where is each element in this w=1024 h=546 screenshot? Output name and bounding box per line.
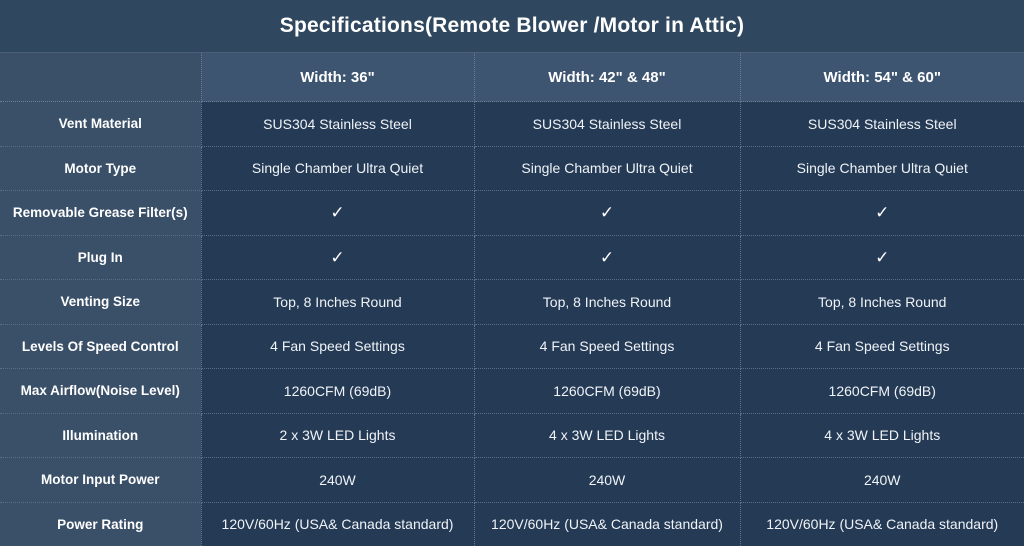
row-value-col2: ✓ — [474, 191, 740, 236]
row-value-col2: 4 Fan Speed Settings — [474, 324, 740, 369]
table-row: Illumination 2 x 3W LED Lights 4 x 3W LE… — [0, 413, 1024, 458]
row-label: Power Rating — [0, 502, 201, 546]
table-row: Max Airflow(Noise Level) 1260CFM (69dB) … — [0, 369, 1024, 414]
title-row: Specifications(Remote Blower /Motor in A… — [0, 0, 1024, 53]
row-value-col2: 120V/60Hz (USA& Canada standard) — [474, 502, 740, 546]
row-value-col3: 4 Fan Speed Settings — [740, 324, 1024, 369]
check-icon: ✓ — [600, 204, 614, 221]
table-row: Motor Input Power 240W 240W 240W — [0, 458, 1024, 503]
table-row: Removable Grease Filter(s) ✓ ✓ ✓ — [0, 191, 1024, 236]
row-value-col1: 4 Fan Speed Settings — [201, 324, 474, 369]
column-header-width-42-48: Width: 42" & 48" — [474, 53, 740, 102]
row-value-col1: Single Chamber Ultra Quiet — [201, 146, 474, 191]
check-icon: ✓ — [330, 204, 344, 221]
row-value-col2: ✓ — [474, 235, 740, 280]
row-value-col3: Top, 8 Inches Round — [740, 280, 1024, 325]
check-icon: ✓ — [875, 249, 889, 266]
row-value-col2: Single Chamber Ultra Quiet — [474, 146, 740, 191]
table-row: Vent Material SUS304 Stainless Steel SUS… — [0, 102, 1024, 147]
row-label: Vent Material — [0, 102, 201, 147]
row-value-col2: 240W — [474, 458, 740, 503]
row-label: Plug In — [0, 235, 201, 280]
table-row: Plug In ✓ ✓ ✓ — [0, 235, 1024, 280]
row-value-col1: Top, 8 Inches Round — [201, 280, 474, 325]
check-icon: ✓ — [600, 249, 614, 266]
column-header-width-36: Width: 36" — [201, 53, 474, 102]
row-value-col3: 240W — [740, 458, 1024, 503]
row-value-col2: 4 x 3W LED Lights — [474, 413, 740, 458]
page-title: Specifications(Remote Blower /Motor in A… — [0, 0, 1024, 53]
row-label: Illumination — [0, 413, 201, 458]
row-value-col2: SUS304 Stainless Steel — [474, 102, 740, 147]
table-row: Venting Size Top, 8 Inches Round Top, 8 … — [0, 280, 1024, 325]
row-value-col3: ✓ — [740, 235, 1024, 280]
row-label: Venting Size — [0, 280, 201, 325]
row-value-col3: SUS304 Stainless Steel — [740, 102, 1024, 147]
column-header-row: Width: 36" Width: 42" & 48" Width: 54" &… — [0, 53, 1024, 102]
row-value-col2: 1260CFM (69dB) — [474, 369, 740, 414]
row-value-col1: 2 x 3W LED Lights — [201, 413, 474, 458]
row-label: Max Airflow(Noise Level) — [0, 369, 201, 414]
row-value-col3: 120V/60Hz (USA& Canada standard) — [740, 502, 1024, 546]
row-label: Motor Type — [0, 146, 201, 191]
check-icon: ✓ — [330, 249, 344, 266]
row-value-col3: 4 x 3W LED Lights — [740, 413, 1024, 458]
row-label: Removable Grease Filter(s) — [0, 191, 201, 236]
row-label: Motor Input Power — [0, 458, 201, 503]
row-value-col1: 120V/60Hz (USA& Canada standard) — [201, 502, 474, 546]
row-label: Levels Of Speed Control — [0, 324, 201, 369]
header-corner-cell — [0, 53, 201, 102]
table-row: Power Rating 120V/60Hz (USA& Canada stan… — [0, 502, 1024, 546]
row-value-col1: SUS304 Stainless Steel — [201, 102, 474, 147]
table-row: Levels Of Speed Control 4 Fan Speed Sett… — [0, 324, 1024, 369]
row-value-col1: 1260CFM (69dB) — [201, 369, 474, 414]
row-value-col3: Single Chamber Ultra Quiet — [740, 146, 1024, 191]
table-row: Motor Type Single Chamber Ultra Quiet Si… — [0, 146, 1024, 191]
row-value-col1: 240W — [201, 458, 474, 503]
row-value-col2: Top, 8 Inches Round — [474, 280, 740, 325]
check-icon: ✓ — [875, 204, 889, 221]
specifications-table: Specifications(Remote Blower /Motor in A… — [0, 0, 1024, 546]
spec-rows: Vent Material SUS304 Stainless Steel SUS… — [0, 102, 1024, 546]
row-value-col1: ✓ — [201, 235, 474, 280]
row-value-col3: 1260CFM (69dB) — [740, 369, 1024, 414]
column-header-width-54-60: Width: 54" & 60" — [740, 53, 1024, 102]
row-value-col1: ✓ — [201, 191, 474, 236]
row-value-col3: ✓ — [740, 191, 1024, 236]
